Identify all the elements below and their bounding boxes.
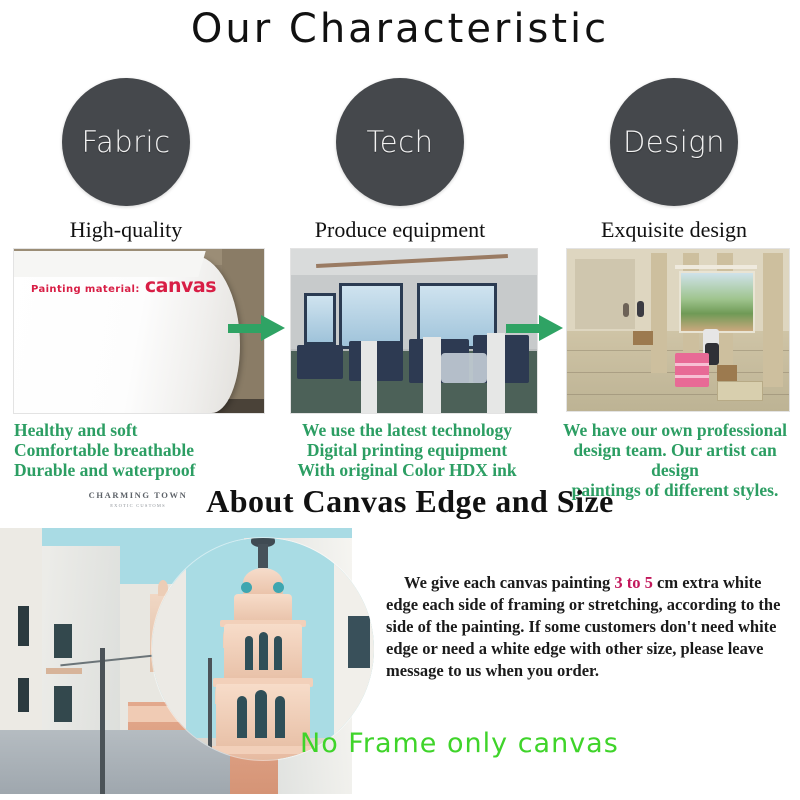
canvas-caption-big: canvas (145, 275, 216, 297)
feature-badges-row: Fabric High-quality Tech Produce equipme… (0, 78, 800, 238)
badge-label: Tech (367, 125, 434, 159)
design-studio-photo (566, 248, 790, 412)
feature-description-fabric: Healthy and soft Comfortable breathable … (14, 420, 274, 480)
desc-line: Digital printing equipment (272, 440, 542, 460)
note-highlight: 3 to 5 (614, 573, 653, 592)
feature-descriptions-row: Healthy and soft Comfortable breathable … (0, 420, 800, 486)
feature-column-tech: Tech Produce equipment (267, 78, 533, 243)
feature-column-design: Design Exquisite design (541, 78, 800, 243)
badge-circle-tech: Tech (336, 78, 464, 206)
factory-illustration (291, 249, 537, 413)
canvas-caption-small: Painting material: (31, 284, 140, 295)
green-arrow-right-icon (228, 315, 286, 341)
feature-caption: Produce equipment (267, 217, 533, 243)
desc-line: We have our own professional (556, 420, 794, 440)
desc-line: Comfortable breathable (14, 440, 274, 460)
canvas-photo-caption: Painting material: canvas (31, 275, 216, 297)
feature-photos-row: Painting material: canvas (0, 248, 800, 418)
badge-circle-design: Design (610, 78, 738, 206)
no-frame-note: No Frame only canvas (300, 728, 630, 759)
desc-line: With original Color HDX ink (272, 460, 542, 480)
feature-caption: Exquisite design (541, 217, 800, 243)
section-title: About Canvas Edge and Size (150, 483, 670, 520)
feature-description-tech: We use the latest technology Digital pri… (272, 420, 542, 480)
green-arrow-right-icon (506, 315, 564, 341)
product-description-page: Our Characteristic Fabric High-quality T… (0, 0, 800, 800)
feature-column-fabric: Fabric High-quality (0, 78, 259, 243)
canvas-sheet-illustration (14, 249, 264, 413)
printing-factory-photo (290, 248, 538, 414)
desc-line: Healthy and soft (14, 420, 274, 440)
badge-circle-fabric: Fabric (62, 78, 190, 206)
desc-line: We use the latest technology (272, 420, 542, 440)
studio-illustration (567, 249, 789, 411)
magnified-tower-inset (152, 538, 374, 760)
badge-label: Fabric (81, 125, 170, 159)
note-part1: We give each canvas painting (404, 573, 614, 592)
page-title: Our Characteristic (0, 6, 800, 52)
desc-line: Durable and waterproof (14, 460, 274, 480)
bell-tower-illustration (215, 568, 311, 760)
feature-caption: High-quality (0, 217, 259, 243)
canvas-edge-note: We give each canvas painting 3 to 5 cm e… (386, 572, 790, 682)
desc-line: design team. Our artist can design (556, 440, 794, 480)
badge-label: Design (623, 125, 725, 159)
